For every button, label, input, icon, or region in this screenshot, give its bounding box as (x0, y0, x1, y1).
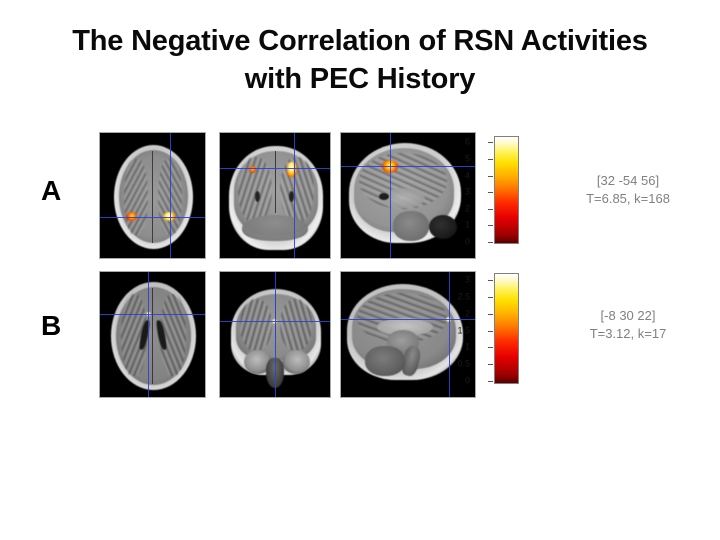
brain-slice-coronal-b (219, 271, 331, 398)
colorbar-a-tickmark (488, 192, 493, 193)
row-label-a: A (41, 177, 61, 205)
colorbar-a-tickmark (488, 225, 493, 226)
cluster-coordinates-b: [-8 30 22] (553, 307, 703, 325)
crosshair-horizontal (100, 314, 205, 315)
colorbar-b-tickmark (488, 280, 493, 281)
crosshair-vertical (170, 133, 171, 258)
crosshair-horizontal (100, 217, 205, 218)
colorbar-a-tickmark (488, 209, 493, 210)
colorbar-a-tickmark (488, 176, 493, 177)
colorbar-a-gradient (494, 136, 519, 244)
colorbar-a-tick: 6 (465, 138, 470, 147)
colorbar-b-tickmark (488, 297, 493, 298)
row-label-b: B (41, 312, 61, 340)
crosshair-vertical (294, 133, 295, 258)
page-title-line-1: The Negative Correlation of RSN Activiti… (30, 22, 690, 60)
colorbar-b-tick: 1 (465, 343, 470, 352)
page-title-line-2: with PEC History (30, 60, 690, 98)
colorbar-b-tick: 0 (465, 377, 470, 386)
crosshair-vertical (449, 272, 450, 397)
colorbar-b-tick: 2.5 (457, 293, 470, 302)
colorbar-b-tickmark (488, 381, 493, 382)
colorbar-b: 0 0.5 1 1.5 2 2.5 3 (472, 273, 522, 384)
colorbar-a-tick: 1 (465, 221, 470, 230)
colorbar-a-tick: 4 (465, 171, 470, 180)
colorbar-b-tick: 0.5 (457, 360, 470, 369)
colorbar-b-tick: 2 (465, 309, 470, 318)
activation-blob (287, 162, 297, 177)
crosshair-vertical (390, 133, 391, 258)
brain-slice-coronal-a (219, 132, 331, 259)
crosshair-horizontal (341, 319, 475, 320)
colorbar-a-tick: 2 (465, 204, 470, 213)
colorbar-b-tickmark (488, 314, 493, 315)
colorbar-a-tick: 5 (465, 155, 470, 164)
colorbar-a-tick: 3 (465, 188, 470, 197)
cluster-stats-b: T=3.12, k=17 (553, 325, 703, 343)
crosshair-vertical (275, 272, 276, 397)
cluster-coordinates-a: [32 -54 56] (553, 172, 703, 190)
cluster-stats-a: T=6.85, k=168 (553, 190, 703, 208)
brain-slice-axial-b (99, 271, 206, 398)
colorbar-a-tickmark (488, 159, 493, 160)
colorbar-b-tickmark (488, 364, 493, 365)
page-title: The Negative Correlation of RSN Activiti… (30, 22, 690, 98)
crosshair-horizontal (220, 168, 330, 169)
colorbar-a: 0 1 2 3 4 5 6 (472, 136, 522, 244)
brain-slice-sagittal-b (340, 271, 476, 398)
crosshair-horizontal (341, 166, 475, 167)
crosshair-horizontal (220, 321, 330, 322)
cluster-annotation-b: [-8 30 22] T=3.12, k=17 (553, 307, 703, 343)
colorbar-b-tick: 3 (465, 276, 470, 285)
colorbar-b-gradient (494, 273, 519, 384)
colorbar-a-tickmark (488, 142, 493, 143)
colorbar-a-tick: 0 (465, 238, 470, 247)
brain-slice-axial-a (99, 132, 206, 259)
colorbar-b-tick: 1.5 (457, 326, 470, 335)
colorbar-b-tickmark (488, 347, 493, 348)
cluster-annotation-a: [32 -54 56] T=6.85, k=168 (553, 172, 703, 208)
brain-slice-sagittal-a (340, 132, 476, 259)
colorbar-b-tickmark (488, 331, 493, 332)
crosshair-vertical (148, 272, 149, 397)
colorbar-a-tickmark (488, 242, 493, 243)
